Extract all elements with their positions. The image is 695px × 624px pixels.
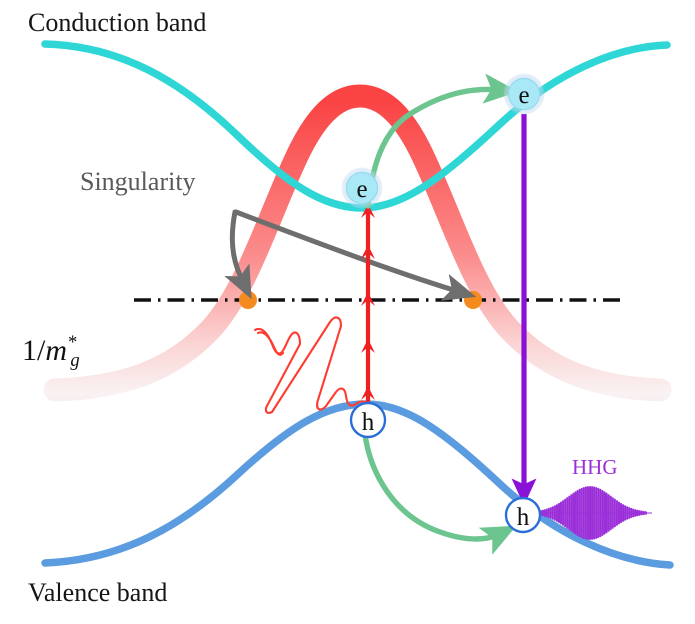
singularity-label: Singularity: [80, 167, 196, 197]
inverse-mass-subscript: g: [70, 350, 79, 371]
inverse-effective-mass-label: 1/m*g: [22, 334, 86, 368]
hole-label-right: h: [517, 504, 530, 531]
electron-label-upper: e: [518, 82, 529, 109]
electron-marker-lower: e: [342, 168, 383, 209]
valence-band-label: Valence band: [28, 578, 167, 608]
figure-canvas: e e h h Conduction band Valence band Sin…: [0, 0, 695, 624]
hhg-wavepacket: [528, 487, 652, 539]
electron-marker-upper: e: [504, 74, 545, 115]
hole-marker-right: h: [506, 498, 540, 532]
hole-label-center: h: [362, 409, 375, 436]
inverse-effective-mass-curve: [55, 96, 660, 390]
singularity-point-left: [239, 291, 257, 309]
hole-marker-center: h: [351, 403, 385, 437]
hole-transport-arrow: [364, 426, 500, 539]
inverse-mass-symbol: m: [45, 334, 67, 367]
electron-label-lower: e: [356, 176, 367, 203]
singularity-point-right: [464, 291, 482, 309]
band-diagram-svg: e e h h: [0, 0, 695, 624]
inverse-mass-numerator: 1: [22, 334, 37, 367]
conduction-band-label: Conduction band: [28, 8, 206, 38]
multiphoton-excitation-arrow: [361, 204, 375, 406]
hhg-label: HHG: [572, 455, 618, 480]
driving-laser-pulse: [255, 317, 368, 412]
